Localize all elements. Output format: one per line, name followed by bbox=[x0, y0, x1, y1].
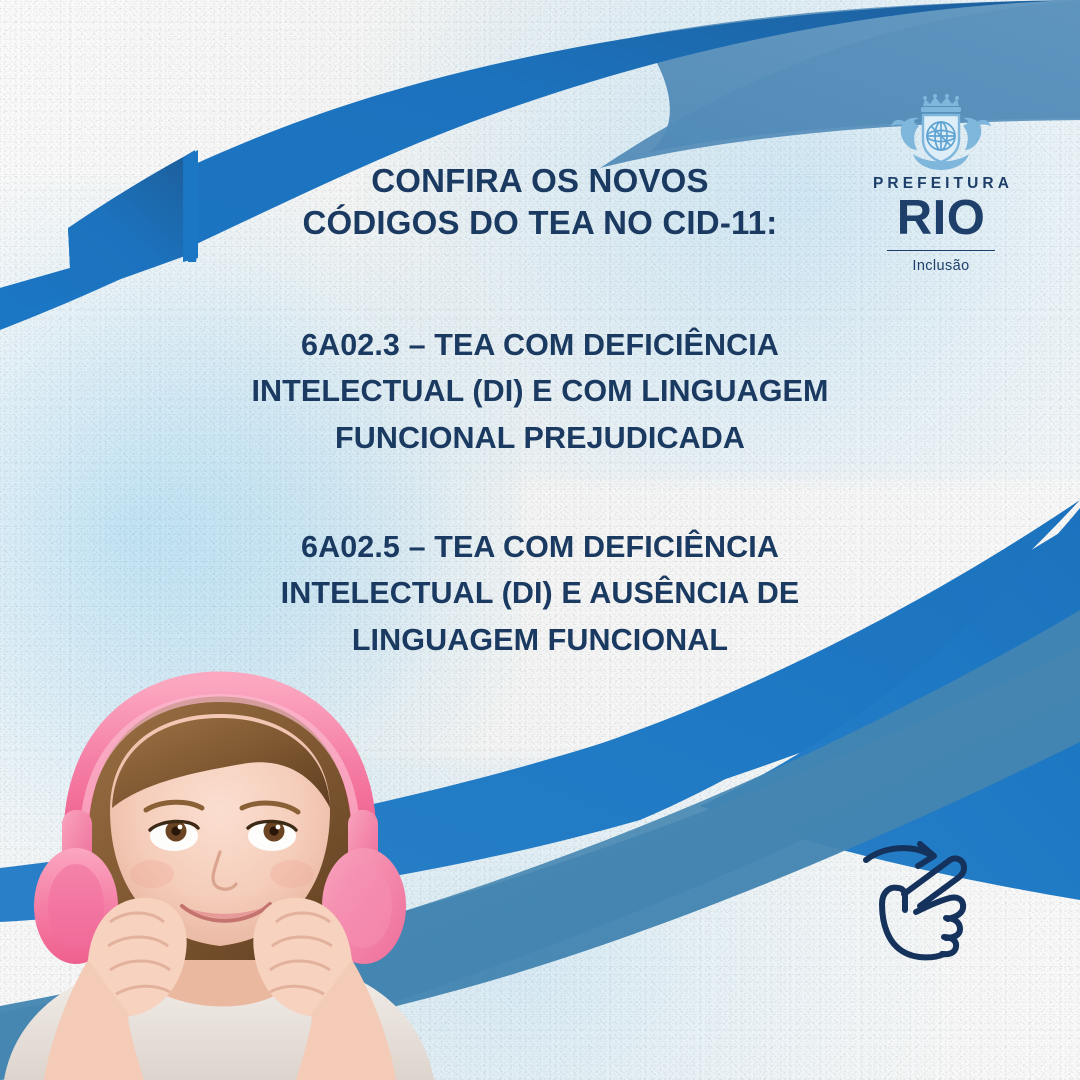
logo-sub-label: Inclusão bbox=[855, 258, 1027, 274]
code-2-line-1: 6A02.5 – TEA COM DEFICIÊNCIA bbox=[0, 524, 1080, 570]
code-1-line-1: 6A02.3 – TEA COM DEFICIÊNCIA bbox=[0, 322, 1080, 368]
logo-divider bbox=[887, 250, 995, 252]
code-2-line-2: INTELECTUAL (DI) E AUSÊNCIA DE bbox=[0, 570, 1080, 616]
girl-with-pink-headphones-photo bbox=[0, 660, 454, 1080]
headline-line-2: CÓDIGOS DO TEA NO CID-11: bbox=[0, 202, 1080, 244]
poster-canvas: PREFEITURA RIO Inclusão CONFIRA OS NOVOS… bbox=[0, 0, 1080, 1080]
page-title: CONFIRA OS NOVOS CÓDIGOS DO TEA NO CID-1… bbox=[0, 160, 1080, 244]
headline-line-1: CONFIRA OS NOVOS bbox=[0, 160, 1080, 202]
code-1-line-2: INTELECTUAL (DI) E COM LINGUAGEM bbox=[0, 368, 1080, 414]
code-1-line-3: FUNCIONAL PREJUDICADA bbox=[0, 415, 1080, 461]
libras-hand-icon bbox=[858, 838, 988, 963]
code-2-line-3: LINGUAGEM FUNCIONAL bbox=[0, 617, 1080, 663]
cid-code-block-6a023: 6A02.3 – TEA COM DEFICIÊNCIA INTELECTUAL… bbox=[0, 322, 1080, 461]
cid-code-block-6a025: 6A02.5 – TEA COM DEFICIÊNCIA INTELECTUAL… bbox=[0, 524, 1080, 663]
